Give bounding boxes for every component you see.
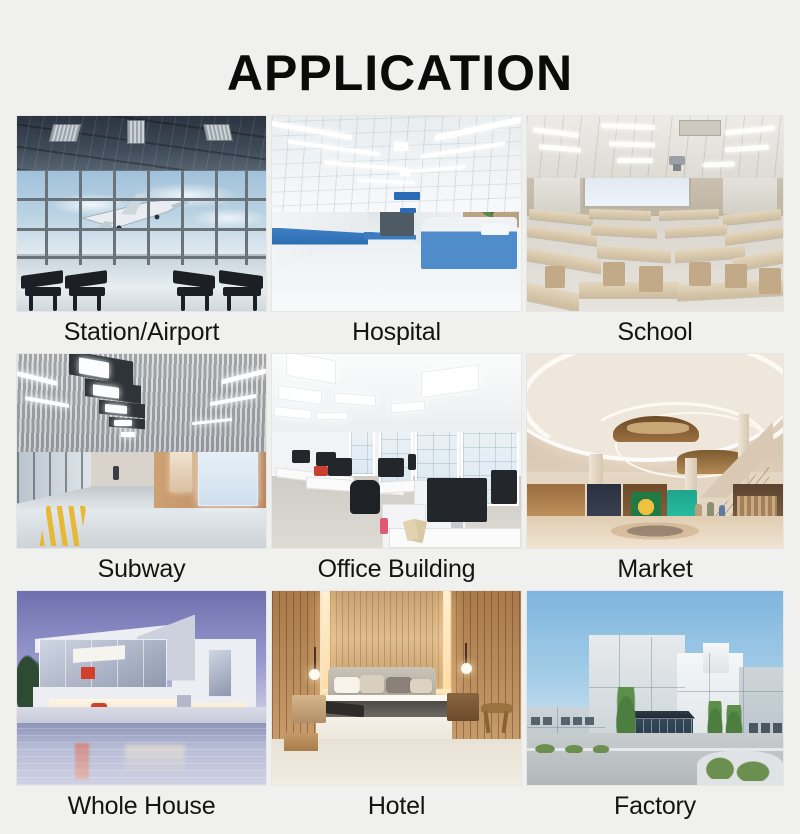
caption-school: School <box>527 311 783 354</box>
scene-hospital-corridor <box>272 116 521 311</box>
grid-item-subway[interactable]: Subway <box>17 354 266 591</box>
scene-modern-villa <box>17 591 266 785</box>
grid-item-factory[interactable]: Factory <box>527 591 783 828</box>
caption-market: Market <box>527 548 783 591</box>
scene-hotel-room <box>272 591 521 785</box>
thumbnail-school[interactable] <box>527 116 783 311</box>
caption-hotel: Hotel <box>272 785 521 828</box>
scene-factory-exterior <box>527 591 783 785</box>
thumbnail-hotel[interactable] <box>272 591 521 785</box>
application-grid: Station/Airport <box>17 116 783 828</box>
thumbnail-factory[interactable] <box>527 591 783 785</box>
grid-item-market[interactable]: Market <box>527 354 783 591</box>
thumbnail-whole-house[interactable] <box>17 591 266 785</box>
caption-subway: Subway <box>17 548 266 591</box>
thumbnail-hospital[interactable] <box>272 116 521 311</box>
scene-classroom <box>527 116 783 311</box>
thumbnail-subway[interactable] <box>17 354 266 548</box>
grid-item-school[interactable]: School <box>527 116 783 354</box>
caption-factory: Factory <box>527 785 783 828</box>
caption-hospital: Hospital <box>272 311 521 354</box>
scene-airport-terminal <box>17 116 266 311</box>
grid-item-hospital[interactable]: Hospital <box>272 116 521 354</box>
grid-item-whole-house[interactable]: Whole House <box>17 591 266 828</box>
thumbnail-office-building[interactable] <box>272 354 521 548</box>
grid-item-hotel[interactable]: Hotel <box>272 591 521 828</box>
scene-open-plan-office <box>272 354 521 548</box>
thumbnail-station-airport[interactable] <box>17 116 266 311</box>
caption-office-building: Office Building <box>272 548 521 591</box>
application-page: APPLICATION <box>0 34 800 834</box>
caption-whole-house: Whole House <box>17 785 266 828</box>
scene-subway-platform <box>17 354 266 548</box>
grid-item-office-building[interactable]: Office Building <box>272 354 521 591</box>
grid-item-station-airport[interactable]: Station/Airport <box>17 116 266 354</box>
page-title: APPLICATION <box>0 34 800 90</box>
scene-mall-atrium <box>527 354 783 548</box>
caption-station-airport: Station/Airport <box>17 311 266 354</box>
thumbnail-market[interactable] <box>527 354 783 548</box>
